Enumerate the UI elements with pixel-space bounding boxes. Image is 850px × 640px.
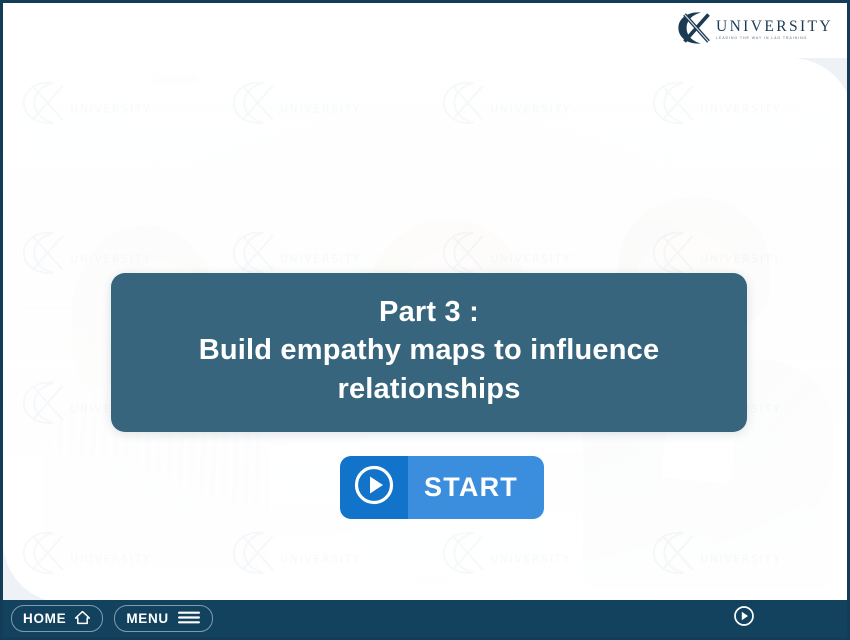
home-button[interactable]: HOME [11, 605, 103, 632]
logo-wordmark: UNIVERSITY [716, 19, 833, 35]
play-circle-icon [733, 605, 755, 632]
menu-button-label: MENU [126, 611, 169, 626]
course-slide-screen: UNIVERSITY LEADING THE WAY IN L&D TRAINI… [0, 0, 850, 640]
brand-logo: UNIVERSITY LEADING THE WAY IN L&D TRAINI… [675, 11, 833, 49]
start-button[interactable]: START [340, 456, 544, 519]
title-line-2: Build empathy maps to influence [135, 331, 723, 369]
title-line-3: relationships [135, 370, 723, 408]
home-button-label: HOME [23, 611, 66, 626]
start-button-label-area[interactable]: START [408, 456, 544, 519]
hamburger-icon [177, 610, 201, 628]
logo-tagline: LEADING THE WAY IN L&D TRAINING [716, 37, 833, 41]
title-line-1: Part 3 : [135, 293, 723, 331]
header-bar: UNIVERSITY LEADING THE WAY IN L&D TRAINI… [3, 3, 847, 58]
menu-button[interactable]: MENU [114, 605, 213, 632]
slide-title-card: Part 3 : Build empathy maps to influence… [111, 273, 747, 432]
home-icon [74, 610, 91, 628]
play-circle-icon [352, 463, 396, 512]
footer-navigation-bar: HOME MENU [3, 600, 847, 640]
next-button[interactable] [733, 605, 847, 632]
start-button-icon-area[interactable] [340, 456, 408, 519]
x-university-monogram-icon [675, 10, 717, 51]
slide-stage: UNIVERSITY Part 3 : Build empathy maps t… [3, 58, 850, 603]
start-button-label: START [424, 472, 518, 503]
